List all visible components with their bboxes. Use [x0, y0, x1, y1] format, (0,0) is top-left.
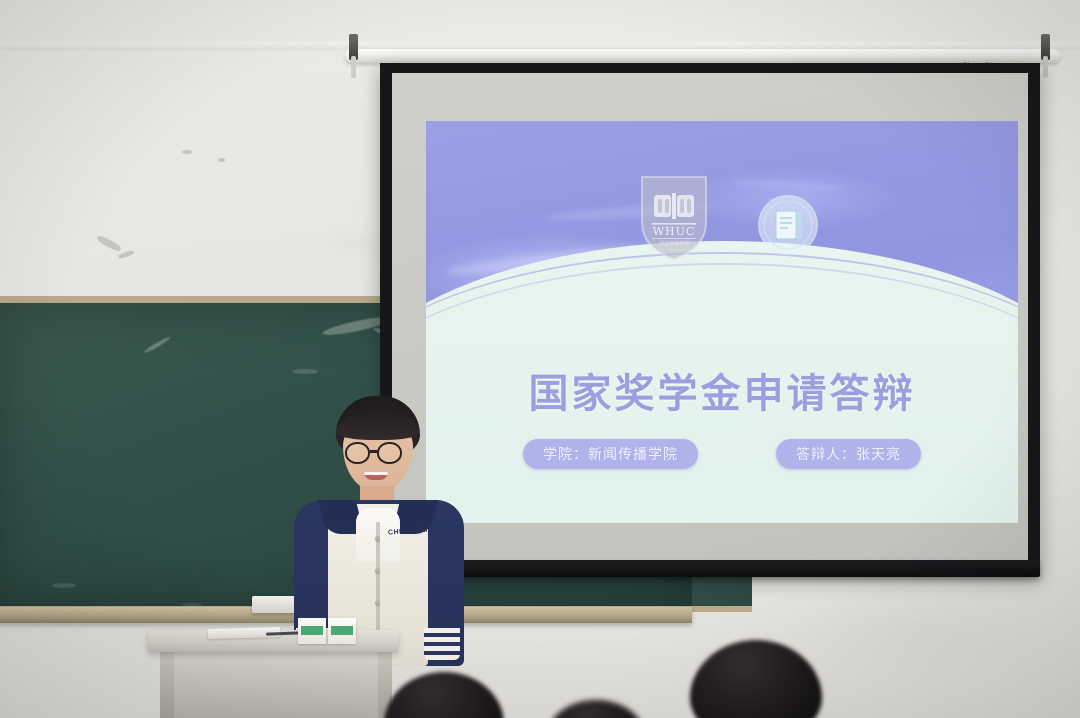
desk-packet	[328, 618, 356, 644]
department-seal-icon: 新闻传播学院	[756, 193, 820, 257]
screen-bottom-bar	[380, 560, 1040, 577]
desk-packet	[298, 618, 326, 644]
glasses-lens-left	[345, 442, 370, 464]
wall-scuff-mark	[218, 158, 225, 162]
jacket-snap	[375, 536, 380, 541]
jacket-embroidery-left: Kris	[332, 521, 348, 529]
slide-title: 国家奖学金申请答辩	[426, 361, 1018, 419]
jacket-snap	[375, 568, 380, 573]
svg-text:新闻传播学院: 新闻传播学院	[769, 197, 808, 204]
projection-screen: WHUC 武汉传媒学院 WUHAN COLLEGE OF MEDIA	[380, 63, 1040, 575]
wall-scuff-mark	[182, 150, 192, 154]
screen-bracket-stem-right	[1043, 56, 1048, 78]
projected-slide: WHUC 武汉传媒学院 WUHAN COLLEGE OF MEDIA	[426, 121, 1018, 523]
classroom-photo: ThreeStars	[0, 0, 1080, 718]
svg-text:WUHAN COLLEGE OF MEDIA: WUHAN COLLEGE OF MEDIA	[650, 248, 698, 252]
glasses-bridge	[370, 450, 378, 453]
badge-presenter: 答辩人：张天亮	[776, 439, 921, 469]
svg-text:武汉传媒学院: 武汉传媒学院	[659, 240, 689, 247]
badge-college: 学院：新闻传播学院	[523, 439, 698, 469]
screen-roller-housing	[345, 49, 1060, 63]
desk-leg-left	[160, 652, 174, 718]
jacket-cuff-right	[424, 628, 460, 660]
desk-body	[160, 652, 392, 718]
slide-badge-row: 学院：新闻传播学院 答辩人：张天亮	[426, 439, 1018, 469]
svg-text:WHUC: WHUC	[653, 225, 696, 238]
jacket-snap	[375, 600, 380, 605]
screen-surface: WHUC 武汉传媒学院 WUHAN COLLEGE OF MEDIA	[392, 73, 1028, 565]
glasses-lens-right	[377, 442, 402, 464]
university-crest-icon: WHUC 武汉传媒学院 WUHAN COLLEGE OF MEDIA	[638, 173, 710, 261]
screen-bracket-stem-left	[351, 56, 356, 78]
